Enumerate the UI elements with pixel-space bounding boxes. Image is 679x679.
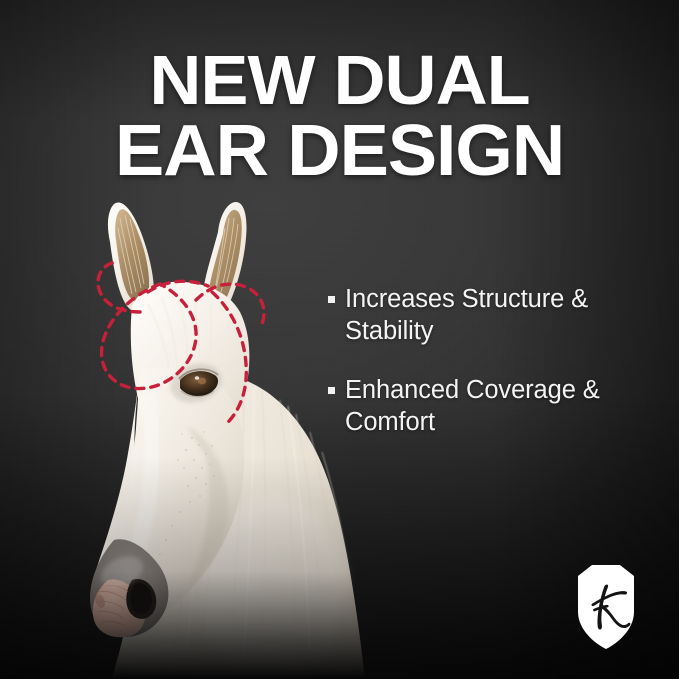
promo-graphic: NEW DUAL EAR DESIGN Increases Structure … <box>0 0 679 679</box>
horse-photo <box>36 188 372 679</box>
square-bullet-icon <box>328 387 335 394</box>
headline-block: NEW DUAL EAR DESIGN <box>0 48 679 185</box>
list-item: Increases Structure & Stability <box>328 283 648 348</box>
shield-badge-icon <box>568 562 644 652</box>
feature-text: Increases Structure & Stability <box>345 283 648 348</box>
brand-logo <box>568 562 644 652</box>
feature-text: Enhanced Coverage & Comfort <box>345 374 648 439</box>
feature-list: Increases Structure & Stability Enhanced… <box>328 283 648 465</box>
headline-line-2: EAR DESIGN <box>0 118 679 186</box>
horse-illustration <box>36 188 372 679</box>
square-bullet-icon <box>328 296 335 303</box>
list-item: Enhanced Coverage & Comfort <box>328 374 648 439</box>
headline-line-1: NEW DUAL <box>0 48 679 114</box>
